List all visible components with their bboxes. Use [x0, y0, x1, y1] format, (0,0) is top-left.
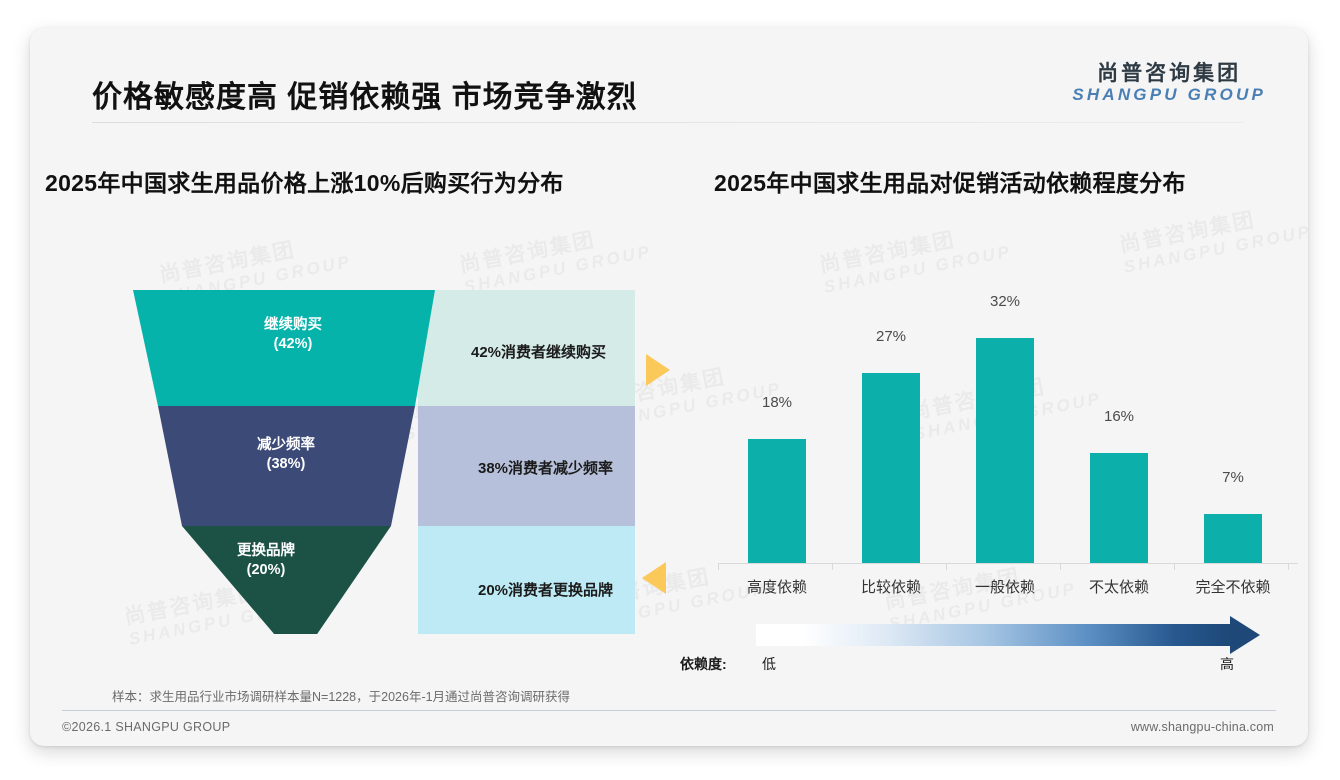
axis-tick: [1060, 563, 1061, 570]
left-chart-title: 2025年中国求生用品价格上涨10%后购买行为分布: [45, 164, 564, 198]
bar-value-label: 16%: [1070, 408, 1168, 425]
funnel-label-3-name: 更换品牌: [211, 542, 321, 561]
funnel-label-3: 更换品牌 (20%): [211, 542, 321, 580]
footer-website[interactable]: www.shangpu-china.com: [1131, 720, 1274, 734]
bar-category-label: 高度依赖: [722, 576, 832, 597]
axis-tick: [718, 563, 719, 570]
bar-column: 16%: [1070, 278, 1168, 563]
footer-copyright: ©2026.1 SHANGPU GROUP: [62, 720, 230, 734]
watermark-en: SHANGPU GROUP: [1122, 222, 1308, 278]
funnel-label-2: 减少频率 (38%): [216, 436, 356, 474]
funnel-label-3-value: (20%): [211, 561, 321, 580]
bar-value-label: 7%: [1184, 469, 1282, 486]
axis-tick: [1174, 563, 1175, 570]
header-divider: [92, 122, 1244, 123]
bar-value-label: 32%: [956, 293, 1054, 310]
logo-en-text: SHANGPU GROUP: [1072, 86, 1266, 105]
legend-high-label: 高: [1220, 654, 1234, 674]
bar-rect: [862, 373, 920, 563]
watermark: 尚普咨询集团 SHANGPU GROUP: [1118, 198, 1308, 277]
bar-plot-area: 18% 27% 32% 16% 7%: [718, 278, 1298, 563]
watermark-cn: 尚普咨询集团: [1118, 198, 1308, 258]
header: 价格敏感度高 促销依赖强 市场竞争激烈 尚普咨询集团 SHANGPU GROUP: [30, 28, 1308, 122]
bar-category-label: 不太依赖: [1064, 576, 1174, 597]
bar-column: 27%: [842, 278, 940, 563]
funnel-callout-2: 38%消费者减少频率: [478, 457, 613, 478]
legend-low-label: 低: [762, 654, 776, 674]
watermark-cn: 尚普咨询集团: [818, 218, 1010, 278]
bar-value-label: 27%: [842, 328, 940, 345]
bar-chart: 18% 27% 32% 16% 7%: [718, 278, 1298, 598]
triangle-right-icon: [646, 354, 670, 386]
legend-caption: 依赖度:: [680, 654, 727, 674]
funnel-label-1-value: (42%): [223, 335, 363, 354]
funnel-label-2-value: (38%): [216, 455, 356, 474]
bar-rect: [748, 439, 806, 563]
dependency-legend: 依赖度: 低 高: [680, 616, 1300, 678]
bar-category-label: 比较依赖: [836, 576, 946, 597]
funnel-svg: [88, 254, 668, 634]
footer-divider: [62, 710, 1276, 711]
footnote: 样本：求生用品行业市场调研样本量N=1228，于2026年-1月通过尚普咨询调研…: [112, 686, 570, 705]
legend-gradient-bar: [756, 624, 1232, 646]
axis-tick: [946, 563, 947, 570]
funnel-label-1: 继续购买 (42%): [223, 316, 363, 354]
brand-logo: 尚普咨询集团 SHANGPU GROUP: [1072, 62, 1266, 105]
bar-rect: [976, 338, 1034, 563]
slide-card: 尚普咨询集团 SHANGPU GROUP 尚普咨询集团 SHANGPU GROU…: [30, 28, 1308, 746]
bar-column: 18%: [728, 278, 826, 563]
axis-tick: [1288, 563, 1289, 570]
funnel-callout-1: 42%消费者继续购买: [471, 341, 606, 362]
funnel-chart: 继续购买 (42%) 减少频率 (38%) 更换品牌 (20%) 42%消费者继…: [88, 254, 668, 634]
bar-category-label: 完全不依赖: [1178, 576, 1288, 597]
triangle-left-icon: [642, 562, 666, 594]
funnel-callout-3: 20%消费者更换品牌: [478, 579, 613, 600]
logo-cn-text: 尚普咨询集团: [1072, 62, 1266, 85]
axis-tick: [832, 563, 833, 570]
bar-category-label: 一般依赖: [950, 576, 1060, 597]
page-title: 价格敏感度高 促销依赖强 市场竞争激烈: [92, 72, 638, 116]
bar-rect: [1204, 514, 1262, 563]
bar-value-label: 18%: [728, 394, 826, 411]
bar-rect: [1090, 453, 1148, 563]
bar-column: 7%: [1184, 278, 1282, 563]
legend-arrow-icon: [1230, 616, 1260, 654]
right-chart-title: 2025年中国求生用品对促销活动依赖程度分布: [714, 164, 1186, 198]
bar-axis-line: [718, 563, 1298, 564]
funnel-label-2-name: 减少频率: [216, 436, 356, 455]
funnel-label-1-name: 继续购买: [223, 316, 363, 335]
bar-column: 32%: [956, 278, 1054, 563]
